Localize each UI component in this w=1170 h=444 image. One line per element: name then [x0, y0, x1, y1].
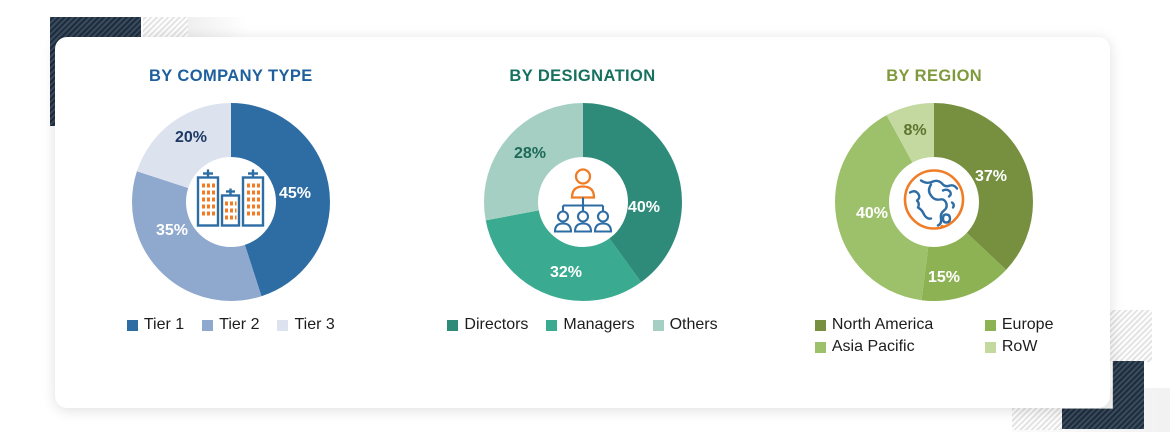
legend-swatch-north-america	[815, 320, 826, 331]
slice-label-others: 28%	[513, 145, 545, 162]
slice-label-row: 8%	[904, 122, 927, 139]
charts-card: BY COMPANY TYPE 45% 35% 20%	[55, 37, 1110, 408]
slice-label-europe: 15%	[928, 269, 960, 286]
legend-item-directors[interactable]: Directors	[447, 316, 528, 334]
slice-label-north-america: 37%	[975, 168, 1007, 185]
legend-company-type: Tier 1 Tier 2 Tier 3	[127, 316, 335, 334]
legend-item-tier-3[interactable]: Tier 3	[277, 316, 334, 334]
globe-icon	[897, 163, 971, 242]
slice-label-asia-pacific: 40%	[856, 205, 888, 222]
legend-label-europe: Europe	[1002, 316, 1054, 334]
legend-swatch-tier-3	[277, 320, 288, 331]
panel-title-region: BY REGION	[886, 67, 982, 86]
legend-label-tier-2: Tier 2	[219, 316, 259, 334]
legend-designation: Directors Managers Others	[447, 316, 717, 334]
legend-swatch-row	[985, 342, 996, 353]
legend-swatch-tier-2	[202, 320, 213, 331]
org-chart-people-icon	[547, 164, 619, 241]
legend-item-others[interactable]: Others	[653, 316, 718, 334]
office-buildings-icon	[192, 164, 270, 241]
donut-chart-region: 37% 15% 40% 8%	[834, 102, 1034, 302]
slice-label-tier-1: 45%	[279, 185, 311, 202]
donut-chart-designation: 40% 32% 28%	[483, 102, 683, 302]
legend-label-north-america: North America	[832, 316, 933, 334]
legend-item-europe[interactable]: Europe	[985, 316, 1054, 334]
panel-by-company-type: BY COMPANY TYPE 45% 35% 20%	[55, 37, 407, 408]
legend-item-tier-1[interactable]: Tier 1	[127, 316, 184, 334]
legend-item-managers[interactable]: Managers	[546, 316, 634, 334]
slice-label-directors: 40%	[627, 199, 659, 216]
donut-chart-company-type: 45% 35% 20%	[131, 102, 331, 302]
panel-title-designation: BY DESIGNATION	[509, 67, 655, 86]
slice-label-tier-3: 20%	[175, 129, 207, 146]
legend-item-tier-2[interactable]: Tier 2	[202, 316, 259, 334]
slice-label-tier-2: 35%	[156, 222, 188, 239]
panel-by-region: BY REGION 37% 15% 40%	[758, 37, 1110, 408]
panel-title-company-type: BY COMPANY TYPE	[149, 67, 313, 86]
legend-label-managers: Managers	[563, 316, 634, 334]
legend-label-tier-3: Tier 3	[294, 316, 334, 334]
legend-item-asia-pacific[interactable]: Asia Pacific	[815, 338, 975, 356]
legend-swatch-asia-pacific	[815, 342, 826, 353]
legend-item-row[interactable]: RoW	[985, 338, 1054, 356]
legend-swatch-directors	[447, 320, 458, 331]
legend-label-row: RoW	[1002, 338, 1038, 356]
legend-label-asia-pacific: Asia Pacific	[832, 338, 915, 356]
legend-label-others: Others	[670, 316, 718, 334]
panel-by-designation: BY DESIGNATION 40% 32% 28%	[407, 37, 759, 408]
legend-swatch-europe	[985, 320, 996, 331]
legend-swatch-tier-1	[127, 320, 138, 331]
legend-label-tier-1: Tier 1	[144, 316, 184, 334]
legend-label-directors: Directors	[464, 316, 528, 334]
decoration-hatch-bottom	[1012, 405, 1064, 430]
legend-swatch-others	[653, 320, 664, 331]
legend-swatch-managers	[546, 320, 557, 331]
legend-item-north-america[interactable]: North America	[815, 316, 975, 334]
infographic-canvas: BY COMPANY TYPE 45% 35% 20%	[0, 0, 1170, 444]
legend-region: North America Europe Asia Pacific RoW	[815, 316, 1054, 356]
slice-label-managers: 32%	[549, 264, 581, 281]
